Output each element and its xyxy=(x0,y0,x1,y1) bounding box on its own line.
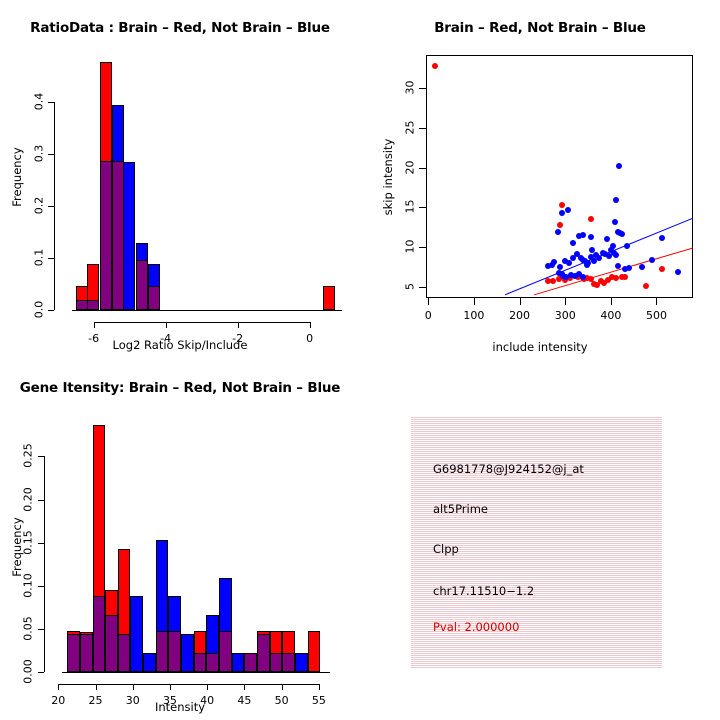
ratio-histogram-bar-outlier xyxy=(323,286,335,310)
gene-histogram-bar-overlap xyxy=(194,653,207,672)
gene-histogram-bar xyxy=(308,631,321,672)
gene-histogram-bar-overlap xyxy=(168,631,181,672)
ratio-histogram-xtick-label: 0 xyxy=(290,332,330,345)
ratio-histogram-ytick xyxy=(48,258,54,259)
gene-histogram-xtick-label: 55 xyxy=(299,694,339,707)
gene-histogram-ytick-label: 0.15 xyxy=(22,522,35,562)
ratio-histogram-ytick xyxy=(48,206,54,207)
gene-histogram-xtick-label: 45 xyxy=(224,694,264,707)
gene-histogram-bar-overlap xyxy=(282,653,295,672)
gene-histogram-bar-overlap xyxy=(206,653,219,672)
ratio-histogram-plot-area: 0.00.10.20.30.4-6-4-20 xyxy=(0,0,360,360)
gene-histogram-xtick xyxy=(133,684,134,690)
ratio-histogram-xtick-label: -4 xyxy=(146,332,186,345)
scatter-point xyxy=(559,202,565,208)
gene-info-panel: G6981778@J924152@j_at alt5Prime Clpp chr… xyxy=(411,417,662,668)
scatter-point xyxy=(565,207,571,213)
ratio-histogram-bar xyxy=(123,162,135,310)
ratio-histogram-xtick xyxy=(166,322,167,328)
gene-histogram-xtick xyxy=(207,684,208,690)
scatter-ytick-label: 25 xyxy=(404,112,417,144)
gene-histogram-xtick xyxy=(319,684,320,690)
gene-histogram-baseline xyxy=(62,672,330,673)
panel-intensity-scatter: Brain – Red, Not Brain – Blue skip inten… xyxy=(360,0,720,360)
scatter-ytick-label: 10 xyxy=(404,231,417,263)
scatter-xtick xyxy=(428,298,429,305)
ratio-histogram-xaxis xyxy=(94,322,310,323)
ratio-histogram-ytick-label: 0.2 xyxy=(33,188,46,222)
info-line-locus: chr17.11510−1.2 xyxy=(433,584,534,598)
ratio-histogram-ytick xyxy=(48,310,54,311)
panel-gene-intensity-histogram: Gene Itensity: Brain – Red, Not Brain – … xyxy=(0,360,360,720)
scatter-ytick-label: 5 xyxy=(404,270,417,302)
gene-histogram-ytick xyxy=(38,456,44,457)
ratio-histogram-bar-overlap xyxy=(112,161,124,310)
scatter-point xyxy=(549,262,555,268)
scatter-point xyxy=(557,222,563,228)
gene-histogram-ytick xyxy=(38,672,44,673)
scatter-xtick-label: 300 xyxy=(545,309,585,322)
gene-histogram-yaxis xyxy=(44,456,45,672)
scatter-xtick-label: 100 xyxy=(454,309,494,322)
ratio-histogram-baseline xyxy=(72,310,342,311)
ratio-histogram-ytick xyxy=(48,102,54,103)
gene-histogram-ytick xyxy=(38,543,44,544)
ratio-histogram-ytick xyxy=(48,154,54,155)
gene-histogram-xtick-label: 20 xyxy=(38,694,78,707)
gene-histogram-xtick-label: 50 xyxy=(262,694,302,707)
ratio-histogram-xtick-label: -2 xyxy=(218,332,258,345)
ratio-histogram-ytick-label: 0.0 xyxy=(33,293,46,327)
gene-histogram-xtick-label: 40 xyxy=(187,694,227,707)
scatter-xtick xyxy=(611,298,612,305)
gene-histogram-bar-overlap xyxy=(80,634,93,672)
scatter-plot-area: 510152025300100200300400500 xyxy=(360,0,720,360)
gene-histogram-xtick-label: 30 xyxy=(113,694,153,707)
gene-histogram-ytick-label: 0.00 xyxy=(22,652,35,692)
gene-histogram-ytick-label: 0.10 xyxy=(22,565,35,605)
gene-histogram-ytick-label: 0.25 xyxy=(22,436,35,476)
gene-histogram-bar xyxy=(295,653,308,672)
gene-histogram-xtick xyxy=(244,684,245,690)
gene-histogram-xtick-label: 35 xyxy=(150,694,190,707)
scatter-point xyxy=(626,265,632,271)
gene-histogram-bar xyxy=(181,634,194,672)
scatter-ytick-label: 20 xyxy=(404,151,417,183)
info-line-event-type: alt5Prime xyxy=(433,502,488,516)
ratio-histogram-ytick-label: 0.4 xyxy=(33,84,46,118)
scatter-point xyxy=(559,271,565,277)
gene-histogram-bar-overlap xyxy=(67,634,80,672)
ratio-histogram-bar-overlap xyxy=(148,286,160,310)
gene-histogram-xaxis xyxy=(58,684,319,685)
scatter-xtick-label: 200 xyxy=(500,309,540,322)
gene-histogram-bar-overlap xyxy=(105,615,118,672)
gene-histogram-bar-overlap xyxy=(244,653,257,672)
scatter-ytick-label: 30 xyxy=(404,72,417,104)
scatter-xtick-label: 0 xyxy=(408,309,448,322)
ratio-histogram-bar-overlap xyxy=(76,300,88,310)
gene-histogram-bar-overlap xyxy=(270,653,283,672)
gene-histogram-plot-area: 0.000.050.100.150.200.252025303540455055 xyxy=(0,360,360,720)
gene-histogram-ytick xyxy=(38,500,44,501)
gene-histogram-bar xyxy=(130,596,143,672)
ratio-histogram-xtick-label: -6 xyxy=(74,332,114,345)
gene-histogram-bar xyxy=(232,653,245,672)
gene-histogram-ytick-label: 0.20 xyxy=(22,479,35,519)
gene-histogram-xtick xyxy=(170,684,171,690)
scatter-point xyxy=(639,264,645,270)
scatter-point xyxy=(566,260,572,266)
scatter-xtick xyxy=(656,298,657,305)
scatter-ytick xyxy=(419,128,426,129)
scatter-ytick xyxy=(419,207,426,208)
ratio-histogram-xtick xyxy=(94,322,95,328)
scatter-xtick-label: 400 xyxy=(591,309,631,322)
info-line-pval: Pval: 2.000000 xyxy=(433,620,519,634)
gene-histogram-bar-overlap xyxy=(93,596,106,672)
scatter-point xyxy=(557,264,563,270)
panel-ratio-histogram: RatioData : Brain – Red, Not Brain – Blu… xyxy=(0,0,360,360)
scatter-ytick xyxy=(419,88,426,89)
ratio-histogram-yaxis xyxy=(54,102,55,310)
scatter-data-layer xyxy=(426,55,693,298)
scatter-ytick-label: 15 xyxy=(404,191,417,223)
gene-histogram-xtick xyxy=(282,684,283,690)
gene-histogram-ytick-label: 0.05 xyxy=(22,608,35,648)
gene-histogram-bar-overlap xyxy=(219,631,232,672)
info-line-probe-id: G6981778@J924152@j_at xyxy=(433,462,584,476)
ratio-histogram-ytick-label: 0.1 xyxy=(33,240,46,274)
ratio-histogram-bar-overlap xyxy=(87,300,99,310)
scatter-xtick xyxy=(474,298,475,305)
ratio-histogram-ytick-label: 0.3 xyxy=(33,136,46,170)
gene-histogram-bar xyxy=(143,653,156,672)
scatter-point xyxy=(555,229,561,235)
ratio-histogram-bar-overlap xyxy=(136,260,148,310)
info-line-gene-symbol: Clpp xyxy=(433,542,459,556)
scatter-point xyxy=(570,240,576,246)
gene-histogram-bar-overlap xyxy=(118,634,131,672)
ratio-histogram-bar-overlap xyxy=(100,161,112,310)
scatter-ytick xyxy=(419,168,426,169)
gene-histogram-ytick xyxy=(38,586,44,587)
scatter-xtick-label: 500 xyxy=(636,309,676,322)
gene-histogram-xtick-label: 25 xyxy=(76,694,116,707)
scatter-xtick xyxy=(565,298,566,305)
scatter-point xyxy=(588,234,594,240)
gene-histogram-xtick xyxy=(96,684,97,690)
ratio-histogram-xtick xyxy=(238,322,239,328)
scatter-point xyxy=(649,257,655,263)
figure-canvas: RatioData : Brain – Red, Not Brain – Blu… xyxy=(0,0,720,720)
gene-histogram-bar-overlap xyxy=(257,634,270,672)
gene-histogram-bar-overlap xyxy=(156,631,169,672)
scatter-ytick xyxy=(419,247,426,248)
scatter-xtick xyxy=(520,298,521,305)
scatter-point xyxy=(580,274,586,280)
gene-histogram-ytick xyxy=(38,629,44,630)
scatter-ytick xyxy=(419,287,426,288)
gene-histogram-xtick xyxy=(58,684,59,690)
ratio-histogram-xtick xyxy=(310,322,311,328)
